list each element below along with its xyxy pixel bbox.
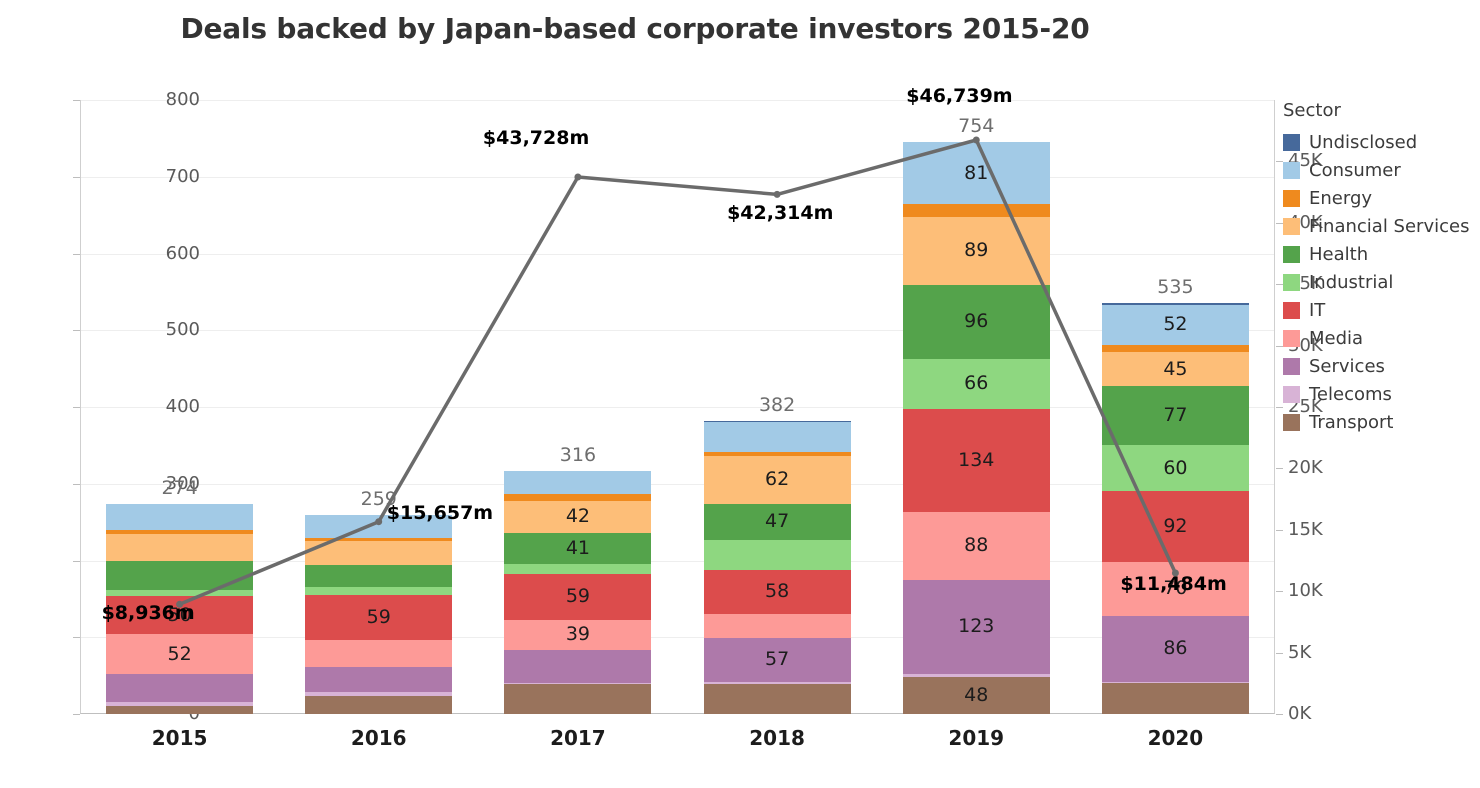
bar-segment-label: 52 — [1163, 315, 1187, 334]
bar-segment-label: 81 — [964, 164, 988, 183]
bar-segment-label: 92 — [1163, 517, 1187, 536]
bar-segment-label: 57 — [765, 650, 789, 669]
legend-item-label: Transport — [1309, 412, 1393, 433]
x-axis-tick-label: 2016 — [299, 726, 459, 750]
bar-segment-health[interactable]: 41 — [504, 533, 651, 564]
bar-segment-services[interactable] — [305, 667, 452, 692]
legend-item-label: Health — [1309, 244, 1368, 265]
bar-group[interactable]: 481238813466968981754 — [903, 100, 1050, 714]
bar-segment-services[interactable]: 123 — [903, 580, 1050, 674]
bar-segment-label: 60 — [1163, 459, 1187, 478]
bar-segment-label: 45 — [1163, 360, 1187, 379]
legend: Sector UndisclosedConsumerEnergyFinancia… — [1283, 100, 1480, 436]
bar-segment-energy[interactable] — [903, 204, 1050, 216]
bar-segment-transport[interactable] — [504, 684, 651, 714]
legend-item[interactable]: Services — [1283, 352, 1480, 380]
legend-item[interactable]: Consumer — [1283, 156, 1480, 184]
line-value-label: $46,739m — [906, 85, 1012, 107]
bar-segment-label: 134 — [958, 451, 994, 470]
legend-item[interactable]: Energy — [1283, 184, 1480, 212]
bar-segment-services[interactable] — [504, 650, 651, 683]
bar-segment-label: 89 — [964, 241, 988, 260]
bar-segment-financial-services[interactable]: 42 — [504, 501, 651, 533]
x-axis-tick-label: 2015 — [100, 726, 260, 750]
bar-segment-it[interactable]: 58 — [704, 570, 851, 615]
bar-segment-label: 52 — [167, 645, 191, 664]
bar-segment-transport[interactable] — [305, 696, 452, 714]
x-axis-tick-label: 2020 — [1095, 726, 1255, 750]
legend-swatch-icon — [1283, 274, 1300, 291]
bar-segment-consumer[interactable] — [106, 504, 253, 530]
bar-segment-it[interactable]: 92 — [1102, 491, 1249, 562]
bar-segment-label: 41 — [566, 539, 590, 558]
bar-segment-it[interactable]: 59 — [504, 574, 651, 619]
bar-segment-telecoms[interactable] — [903, 674, 1050, 677]
legend-title: Sector — [1283, 100, 1480, 121]
legend-swatch-icon — [1283, 414, 1300, 431]
legend-item[interactable]: Financial Services — [1283, 212, 1480, 240]
bar-total-label: 754 — [903, 115, 1050, 137]
legend-item-label: Undisclosed — [1309, 132, 1417, 153]
legend-swatch-icon — [1283, 330, 1300, 347]
bar-segment-energy[interactable] — [504, 494, 651, 501]
bar-segment-label: 96 — [964, 312, 988, 331]
legend-item-label: Telecoms — [1309, 384, 1392, 405]
bar-segment-label: 59 — [367, 608, 391, 627]
bar-segment-telecoms[interactable] — [1102, 682, 1249, 684]
bar-segment-media[interactable] — [704, 614, 851, 638]
bar-segment-telecoms[interactable] — [504, 683, 651, 685]
bars-layer: 5250274592593959414231657584762382481238… — [0, 0, 1480, 788]
bar-group[interactable]: 86709260774552535 — [1102, 100, 1249, 714]
bar-segment-label: 58 — [765, 582, 789, 601]
legend-item-label: IT — [1309, 300, 1325, 321]
line-value-label: $8,936m — [102, 602, 195, 624]
bar-segment-consumer[interactable]: 52 — [1102, 305, 1249, 345]
bar-total-label: 316 — [504, 444, 651, 466]
legend-item[interactable]: Industrial — [1283, 268, 1480, 296]
bar-segment-label: 77 — [1163, 406, 1187, 425]
legend-item[interactable]: IT — [1283, 296, 1480, 324]
bar-segment-label: 62 — [765, 470, 789, 489]
bar-segment-energy[interactable] — [106, 530, 253, 535]
legend-item-label: Consumer — [1309, 160, 1401, 181]
x-axis-tick-label: 2018 — [697, 726, 857, 750]
bar-segment-industrial[interactable] — [704, 540, 851, 570]
bar-segment-label: 42 — [566, 507, 590, 526]
bar-segment-undisclosed[interactable] — [704, 421, 851, 423]
legend-swatch-icon — [1283, 190, 1300, 207]
bar-segment-media[interactable] — [305, 640, 452, 667]
bar-segment-label: 66 — [964, 374, 988, 393]
legend-item[interactable]: Transport — [1283, 408, 1480, 436]
bar-segment-transport[interactable] — [106, 706, 253, 714]
bar-segment-label: 123 — [958, 617, 994, 636]
legend-item[interactable]: Telecoms — [1283, 380, 1480, 408]
bar-segment-industrial[interactable]: 66 — [903, 359, 1050, 410]
bar-segment-energy[interactable] — [704, 452, 851, 456]
bar-segment-health[interactable] — [305, 565, 452, 587]
bar-segment-consumer[interactable]: 81 — [903, 142, 1050, 204]
bar-segment-media[interactable]: 39 — [504, 620, 651, 650]
legend-swatch-icon — [1283, 246, 1300, 263]
bar-segment-energy[interactable] — [1102, 345, 1249, 352]
line-value-label: $43,728m — [483, 127, 589, 149]
bar-segment-industrial[interactable]: 60 — [1102, 445, 1249, 491]
bar-segment-telecoms[interactable] — [106, 702, 253, 706]
legend-items: UndisclosedConsumerEnergyFinancial Servi… — [1283, 128, 1480, 436]
legend-swatch-icon — [1283, 302, 1300, 319]
bar-group[interactable]: 39594142316 — [504, 100, 651, 714]
line-value-label: $15,657m — [387, 502, 493, 524]
bar-group[interactable]: 57584762382 — [704, 100, 851, 714]
bar-segment-undisclosed[interactable] — [1102, 303, 1249, 305]
legend-swatch-icon — [1283, 162, 1300, 179]
bar-group[interactable]: 59259 — [305, 100, 452, 714]
legend-swatch-icon — [1283, 386, 1300, 403]
legend-item-label: Services — [1309, 356, 1385, 377]
bar-segment-industrial[interactable] — [106, 590, 253, 595]
line-value-label: $42,314m — [727, 202, 833, 224]
bar-segment-services[interactable] — [106, 674, 253, 702]
bar-segment-health[interactable] — [106, 561, 253, 590]
legend-item-label: Industrial — [1309, 272, 1393, 293]
legend-swatch-icon — [1283, 134, 1300, 151]
bar-segment-it[interactable]: 134 — [903, 409, 1050, 512]
bar-segment-industrial[interactable] — [305, 587, 452, 595]
legend-item[interactable]: Undisclosed — [1283, 128, 1480, 156]
bar-segment-consumer[interactable] — [504, 471, 651, 493]
bar-segment-label: 59 — [566, 587, 590, 606]
bar-segment-transport[interactable]: 48 — [903, 677, 1050, 714]
chart-root: Deals backed by Japan-based corporate in… — [0, 0, 1480, 788]
bar-total-label: 535 — [1102, 276, 1249, 298]
x-axis-tick-label: 2017 — [498, 726, 658, 750]
bar-total-label: 274 — [106, 477, 253, 499]
bar-segment-financial-services[interactable]: 45 — [1102, 352, 1249, 387]
bar-segment-industrial[interactable] — [504, 564, 651, 574]
bar-segment-transport[interactable] — [1102, 683, 1249, 714]
bar-segment-health[interactable]: 96 — [903, 285, 1050, 359]
bar-segment-label: 86 — [1163, 639, 1187, 658]
legend-item[interactable]: Health — [1283, 240, 1480, 268]
bar-segment-label: 88 — [964, 536, 988, 555]
bar-total-label: 382 — [704, 394, 851, 416]
bar-segment-label: 48 — [964, 686, 988, 705]
bar-segment-financial-services[interactable] — [106, 534, 253, 561]
bar-segment-energy[interactable] — [305, 538, 452, 541]
bar-segment-label: 47 — [765, 512, 789, 531]
bar-segment-financial-services[interactable]: 62 — [704, 456, 851, 504]
bar-segment-services[interactable]: 57 — [704, 638, 851, 682]
bar-segment-media[interactable]: 88 — [903, 512, 1050, 580]
bar-segment-telecoms[interactable] — [704, 682, 851, 684]
bar-segment-services[interactable]: 86 — [1102, 616, 1249, 682]
legend-item-label: Media — [1309, 328, 1363, 349]
x-axis-tick-label: 2019 — [896, 726, 1056, 750]
bar-segment-it[interactable]: 59 — [305, 595, 452, 640]
bar-segment-telecoms[interactable] — [305, 692, 452, 696]
legend-swatch-icon — [1283, 358, 1300, 375]
bar-segment-financial-services[interactable]: 89 — [903, 217, 1050, 285]
legend-item-label: Energy — [1309, 188, 1372, 209]
line-value-label: $11,484m — [1120, 573, 1226, 595]
bar-segment-health[interactable]: 77 — [1102, 386, 1249, 445]
bar-segment-media[interactable]: 52 — [106, 634, 253, 674]
bar-segment-label: 39 — [566, 625, 590, 644]
legend-item[interactable]: Media — [1283, 324, 1480, 352]
legend-item-label: Financial Services — [1309, 216, 1469, 237]
bar-segment-financial-services[interactable] — [305, 541, 452, 565]
bar-segment-health[interactable]: 47 — [704, 504, 851, 540]
bar-segment-transport[interactable] — [704, 684, 851, 714]
legend-swatch-icon — [1283, 218, 1300, 235]
bar-segment-consumer[interactable] — [704, 422, 851, 452]
